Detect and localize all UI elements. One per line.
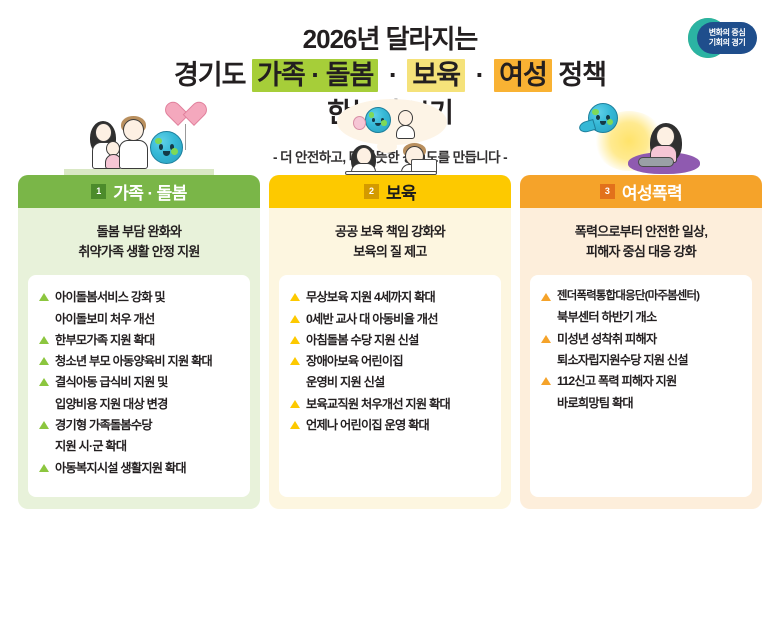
list-item: 한부모가족 지원 확대	[39, 331, 239, 349]
mascot-eye-left	[159, 144, 163, 150]
card-title-childcare: 보육	[386, 179, 416, 204]
policy-card-family-care: 1 가족 · 돌봄 돌봄 부담 완화와 취약가족 생활 안정 지원 아이돌봄서비…	[18, 175, 260, 509]
title-highlight-family-care: 가족 · 돌봄	[252, 59, 378, 92]
list-item-continuation: 지원 시·군 확대	[39, 437, 239, 455]
card-header-childcare: 2 보육	[269, 175, 511, 208]
title-separator-1: ·	[385, 58, 401, 94]
list-item-text: 경기형 가족돌봄수당	[55, 416, 152, 434]
card-subtitle-line2: 취약가족 생활 안정 지원	[28, 242, 250, 262]
title-separator-2: ·	[472, 58, 488, 94]
list-item: 결식아동 급식비 지원 및	[39, 373, 239, 391]
bullet-triangle-icon	[290, 315, 300, 323]
card-number-badge: 1	[91, 184, 106, 199]
bubble-child-body	[396, 125, 415, 139]
bubble-child-head	[398, 110, 413, 126]
card-list-family-care: 아이돌봄서비스 강화 및 아이돌보미 처우 개선 한부모가족 지원 확대 청소년…	[28, 275, 250, 497]
card-title-family-care: 가족 · 돌봄	[113, 179, 186, 204]
card-subtitle-women-violence: 폭력으로부터 안전한 일상, 피해자 중심 대응 강화	[520, 208, 762, 275]
list-item: 미성년 성착취 피해자	[541, 330, 741, 348]
gyeonggi-province-logo: 변화의 중심 기회의 경기	[688, 16, 766, 62]
logo-text: 변화의 중심 기회의 경기	[697, 23, 757, 53]
list-item: 112신고 폭력 피해자 지원	[541, 372, 741, 390]
bullet-spacer	[541, 399, 551, 407]
illustration-family-with-mascot	[18, 97, 260, 175]
mascot-cape	[578, 119, 596, 134]
list-item-continuation: 북부센터 하반기 개소	[541, 308, 741, 326]
list-item-continuation: 아이돌보미 처우 개선	[39, 310, 239, 328]
list-item-text-line2: 바로희망팀 확대	[557, 394, 633, 412]
bullet-spacer	[39, 442, 49, 450]
bullet-triangle-icon	[39, 464, 49, 472]
list-item-continuation: 운영비 지원 신설	[290, 373, 490, 391]
card-subtitle-line2: 피해자 중심 대응 강화	[530, 242, 752, 262]
bullet-spacer	[541, 313, 551, 321]
illustration-parents-with-thought-bubble	[269, 97, 511, 175]
bullet-triangle-icon	[290, 400, 300, 408]
mascot-character	[150, 131, 183, 164]
list-item-text-line2: 아이돌보미 처우 개선	[55, 310, 154, 328]
list-item: 청소년 부모 아동양육비 지원 확대	[39, 352, 239, 370]
bullet-spacer	[290, 378, 300, 386]
mascot-eye-left	[596, 115, 600, 120]
bullet-spacer	[541, 356, 551, 364]
list-item-text: 미성년 성착취 피해자	[557, 330, 656, 348]
list-item-text: 한부모가족 지원 확대	[55, 331, 154, 349]
list-item-text: 무상보육 지원 4세까지 확대	[306, 288, 435, 306]
mascot-eye-left	[372, 118, 375, 122]
list-item: 장애아보육 어린이집	[290, 352, 490, 370]
title-highlight-childcare: 보육	[407, 59, 465, 92]
bullet-triangle-icon	[290, 336, 300, 344]
card-number-badge: 3	[600, 184, 615, 199]
bullet-triangle-icon	[39, 336, 49, 344]
list-item: 보육교직원 처우개선 지원 확대	[290, 395, 490, 413]
bullet-triangle-icon	[39, 378, 49, 386]
bullet-triangle-icon	[541, 377, 551, 385]
list-item-text-line2: 입양비용 지원 대상 변경	[55, 395, 168, 413]
illustration-mascot-shining-light	[520, 97, 762, 175]
list-item-text-line2: 퇴소자립지원수당 지원 신설	[557, 351, 688, 369]
title-line-2: 경기도 가족 · 돌봄 · 보육 · 여성 정책	[0, 58, 780, 94]
title-line-1: 2026년 달라지는	[0, 22, 780, 56]
list-item-text-line2: 운영비 지원 신설	[306, 373, 385, 391]
mascot-mouth	[375, 123, 381, 126]
list-item: 언제나 어린이집 운영 확대	[290, 416, 490, 434]
heart-balloon	[173, 103, 199, 126]
bullet-triangle-icon	[290, 293, 300, 301]
card-list-women-violence: 젠더폭력통합대응단(마주봄센터) 북부센터 하반기 개소 미성년 성착취 피해자…	[530, 275, 752, 497]
card-header-family-care: 1 가족 · 돌봄	[18, 175, 260, 208]
list-item-text: 0세반 교사 대 아동비율 개선	[306, 310, 438, 328]
list-item: 0세반 교사 대 아동비율 개선	[290, 310, 490, 328]
mascot-eye-right	[170, 144, 174, 150]
list-item: 경기형 가족돌봄수당	[39, 416, 239, 434]
bullet-triangle-icon	[39, 293, 49, 301]
card-list-childcare: 무상보육 지원 4세까지 확대 0세반 교사 대 아동비율 개선 아침돌봄 수당…	[279, 275, 501, 497]
card-subtitle-family-care: 돌봄 부담 완화와 취약가족 생활 안정 지원	[18, 208, 260, 275]
mascot-mouth	[163, 151, 170, 155]
mascot-eye-right	[606, 115, 610, 120]
card-subtitle-childcare: 공공 보육 책임 강화와 보육의 질 제고	[269, 208, 511, 275]
policy-card-women-violence: 3 여성폭력 폭력으로부터 안전한 일상, 피해자 중심 대응 강화 젠더폭력통…	[520, 175, 762, 509]
list-item-text: 아침돌봄 수당 지원 신설	[306, 331, 419, 349]
list-item-text: 청소년 부모 아동양육비 지원 확대	[55, 352, 212, 370]
list-item-text-line2: 지원 시·군 확대	[55, 437, 126, 455]
logo-text-line1: 변화의 중심	[709, 28, 746, 38]
title-suffix-policy: 정책	[558, 60, 606, 90]
title-prefix-gyeonggi: 경기도	[174, 60, 246, 90]
bullet-triangle-icon	[290, 421, 300, 429]
bullet-triangle-icon	[290, 357, 300, 365]
card-subtitle-line1: 폭력으로부터 안전한 일상,	[530, 222, 752, 242]
policy-cards-container: 1 가족 · 돌봄 돌봄 부담 완화와 취약가족 생활 안정 지원 아이돌봄서비…	[18, 175, 762, 509]
list-item-text: 아이돌봄서비스 강화 및	[55, 288, 165, 306]
list-item: 아동복지시설 생활지원 확대	[39, 459, 239, 477]
bullet-triangle-icon	[39, 421, 49, 429]
card-subtitle-line1: 돌봄 부담 완화와	[28, 222, 250, 242]
woman-legs	[638, 157, 674, 167]
card-subtitle-line2: 보육의 질 제고	[279, 242, 501, 262]
mascot-mouth	[600, 121, 607, 125]
card-subtitle-line1: 공공 보육 책임 강화와	[279, 222, 501, 242]
woman-head	[656, 126, 675, 147]
title-highlight-women: 여성	[494, 59, 552, 92]
policy-card-childcare: 2 보육 공공 보육 책임 강화와 보육의 질 제고 무상보육 지원 4세까지 …	[269, 175, 511, 509]
mascot-eye-right	[381, 118, 384, 122]
mother-head	[95, 123, 112, 142]
thought-bubble-tail	[377, 140, 397, 153]
list-item-continuation: 퇴소자립지원수당 지원 신설	[541, 351, 741, 369]
card-title-women-violence: 여성폭력	[622, 179, 682, 204]
card-header-women-violence: 3 여성폭력	[520, 175, 762, 208]
bullet-triangle-icon	[39, 357, 49, 365]
list-item: 무상보육 지원 4세까지 확대	[290, 288, 490, 306]
bubble-toy	[353, 116, 366, 130]
list-item-continuation: 바로희망팀 확대	[541, 394, 741, 412]
bullet-spacer	[39, 400, 49, 408]
list-item-text: 112신고 폭력 피해자 지원	[557, 372, 676, 390]
list-item-text: 보육교직원 처우개선 지원 확대	[306, 395, 450, 413]
mascot-character	[365, 107, 391, 133]
list-item-continuation: 입양비용 지원 대상 변경	[39, 395, 239, 413]
balloon-string	[185, 124, 186, 150]
logo-text-line2: 기회의 경기	[709, 38, 746, 48]
card-number-badge: 2	[364, 184, 379, 199]
father-head	[123, 119, 144, 141]
bullet-spacer	[39, 315, 49, 323]
bullet-triangle-icon	[541, 293, 551, 301]
list-item: 아침돌봄 수당 지원 신설	[290, 331, 490, 349]
list-item-text-line2: 북부센터 하반기 개소	[557, 308, 656, 326]
father-body	[119, 140, 148, 169]
list-item: 젠더폭력통합대응단(마주봄센터)	[541, 288, 741, 305]
bullet-triangle-icon	[541, 335, 551, 343]
list-item-text: 젠더폭력통합대응단(마주봄센터)	[557, 288, 699, 305]
list-item: 아이돌봄서비스 강화 및	[39, 288, 239, 306]
list-item-text: 결식아동 급식비 지원 및	[55, 373, 168, 391]
list-item-text: 아동복지시설 생활지원 확대	[55, 459, 186, 477]
list-item-text: 장애아보육 어린이집	[306, 352, 403, 370]
list-item-text: 언제나 어린이집 운영 확대	[306, 416, 429, 434]
